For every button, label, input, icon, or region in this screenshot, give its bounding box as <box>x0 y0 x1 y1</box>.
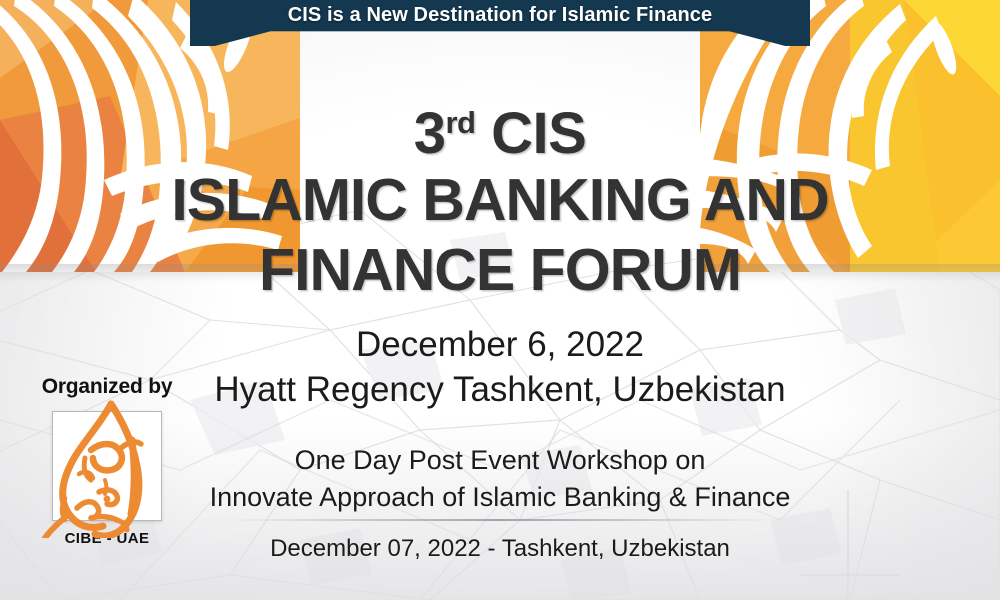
edition-region: CIS <box>475 101 586 166</box>
page-title-line-1: ISLAMIC BANKING AND <box>0 165 1000 235</box>
section-divider <box>225 519 775 521</box>
edition-number: 3 <box>414 101 446 166</box>
organizer-logo-frame <box>52 411 162 521</box>
poster-content: 3rd CIS ISLAMIC BANKING AND FINANCE FORU… <box>0 0 1000 600</box>
event-edition-title: 3rd CIS <box>0 92 1000 165</box>
event-poster: CIS is a New Destination for Islamic Fin… <box>0 0 1000 600</box>
cibe-uae-calligraphy-logo <box>39 396 175 538</box>
event-date: December 6, 2022 <box>0 322 1000 367</box>
edition-ordinal-suffix: rd <box>445 105 475 140</box>
title-block: 3rd CIS ISLAMIC BANKING AND FINANCE FORU… <box>0 92 1000 305</box>
page-title-line-2: FINANCE FORUM <box>0 235 1000 305</box>
organizer-block: Organized by <box>14 373 200 547</box>
